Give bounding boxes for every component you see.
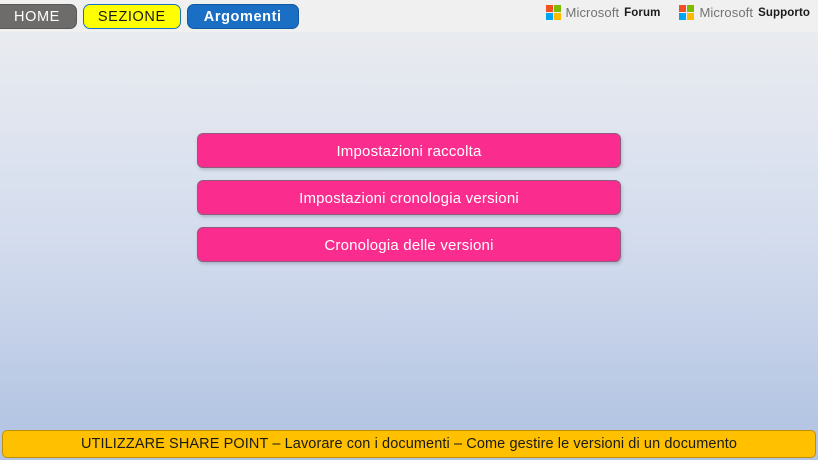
microsoft-links: Microsoft Forum Microsoft Supporto — [546, 5, 810, 20]
nav-tabs: HOME SEZIONE Argomenti — [0, 3, 299, 29]
microsoft-supporto-brand: Microsoft — [699, 5, 753, 20]
nav-tab-sezione-label: SEZIONE — [98, 9, 166, 25]
button-cronologia-delle-versioni[interactable]: Cronologia delle versioni — [197, 227, 621, 262]
footer-banner: UTILIZZARE SHARE POINT – Lavorare con i … — [2, 430, 816, 458]
microsoft-logo-icon — [546, 5, 561, 20]
nav-tab-argomenti[interactable]: Argomenti — [187, 4, 299, 29]
button-impostazioni-cronologia-versioni[interactable]: Impostazioni cronologia versioni — [197, 180, 621, 215]
microsoft-supporto-link[interactable]: Microsoft Supporto — [679, 5, 810, 20]
topic-button-stack: Impostazioni raccolta Impostazioni crono… — [197, 133, 621, 262]
nav-tab-home[interactable]: HOME — [0, 4, 77, 29]
button-impostazioni-raccolta-label: Impostazioni raccolta — [336, 143, 481, 160]
slide-canvas: HOME SEZIONE Argomenti Microsoft Forum — [0, 0, 818, 460]
microsoft-logo-icon — [679, 5, 694, 20]
microsoft-supporto-label: Supporto — [758, 7, 810, 19]
nav-tab-home-label: HOME — [14, 9, 60, 25]
microsoft-forum-label: Forum — [624, 7, 660, 19]
button-impostazioni-cronologia-versioni-label: Impostazioni cronologia versioni — [299, 190, 519, 207]
button-cronologia-delle-versioni-label: Cronologia delle versioni — [324, 237, 493, 254]
button-impostazioni-raccolta[interactable]: Impostazioni raccolta — [197, 133, 621, 168]
microsoft-forum-brand: Microsoft — [566, 5, 620, 20]
top-bar: HOME SEZIONE Argomenti Microsoft Forum — [0, 0, 818, 32]
nav-tab-argomenti-label: Argomenti — [204, 9, 282, 25]
nav-tab-sezione[interactable]: SEZIONE — [83, 4, 181, 29]
microsoft-forum-link[interactable]: Microsoft Forum — [546, 5, 661, 20]
